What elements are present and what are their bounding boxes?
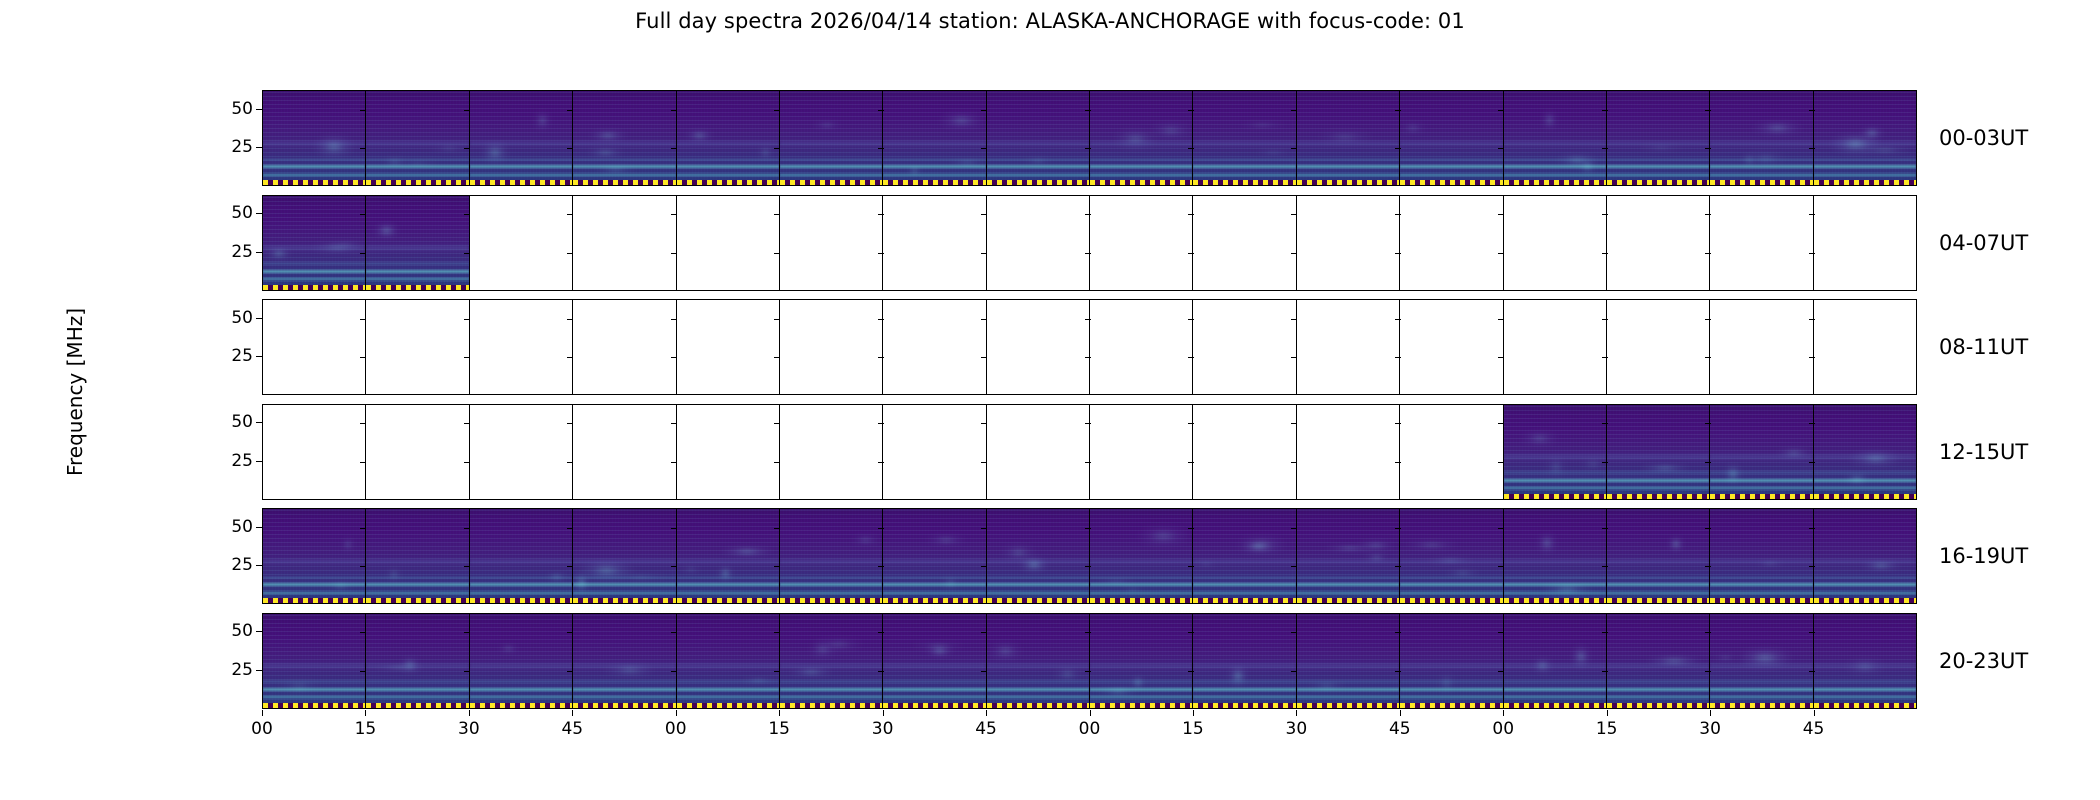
spectrogram-feature (329, 242, 363, 248)
row-axes[interactable] (262, 508, 1917, 604)
spectrogram-cell[interactable] (1090, 91, 1193, 185)
y-axis-tick-inner (1291, 462, 1297, 463)
spectrogram-cell[interactable] (780, 91, 883, 185)
spectrogram-cell[interactable] (1710, 614, 1813, 708)
spectrogram-row: 255020-23UT (262, 613, 1917, 709)
saturated-bin-line (883, 180, 985, 185)
spectrogram-feature (1845, 657, 1885, 676)
y-axis-tick-inner (1085, 632, 1091, 633)
spectrogram-cell[interactable] (1090, 614, 1193, 708)
y-axis-tick-inner (1705, 253, 1711, 254)
spectrogram-feature (809, 640, 837, 659)
spectrogram-cell[interactable] (1710, 91, 1813, 185)
spectrogram-cell-empty[interactable] (1710, 196, 1813, 290)
spectrogram-image (1607, 614, 1709, 708)
spectrogram-cell-empty[interactable] (1090, 405, 1193, 499)
y-axis-tick-inner (360, 423, 366, 424)
y-axis-tick-inner (1395, 253, 1401, 254)
spectrogram-cell-empty[interactable] (987, 196, 1090, 290)
spectrogram-cell[interactable] (366, 91, 469, 185)
spectrogram-image (780, 91, 882, 185)
spectrogram-feature (1777, 447, 1811, 459)
x-axis-tick (1814, 710, 1815, 716)
spectrogram-cell[interactable] (1710, 509, 1813, 603)
row-cells (263, 91, 1916, 185)
y-axis-tick-inner (1498, 462, 1504, 463)
y-axis-tick-inner (1395, 462, 1401, 463)
y-axis-tick-inner (464, 110, 470, 111)
spectrogram-cell[interactable] (366, 196, 469, 290)
spectrogram-image (366, 614, 468, 708)
x-axis-tick (1710, 710, 1711, 716)
saturated-bin-line (1090, 180, 1192, 185)
spectrogram-cell[interactable] (1193, 614, 1296, 708)
x-axis-tick (1503, 710, 1504, 716)
spectrogram-cell-empty[interactable] (1400, 405, 1503, 499)
x-axis-tick-label: 45 (1803, 719, 1825, 739)
spectrogram-image (1400, 91, 1502, 185)
spectrogram-cell[interactable] (780, 509, 883, 603)
spectrogram-cell[interactable] (263, 196, 366, 290)
y-axis-tick-inner (671, 319, 677, 320)
y-axis-tick-inner (1085, 253, 1091, 254)
spectrogram-cell-empty[interactable] (573, 300, 676, 394)
y-axis-tick-inner (1705, 319, 1711, 320)
spectrogram-feature (589, 129, 628, 142)
y-axis-tick-inner (878, 214, 884, 215)
spectrogram-cell[interactable] (883, 614, 986, 708)
spectrogram-feature (908, 167, 921, 175)
y-axis-tick-inner (1705, 671, 1711, 672)
spectrogram-cell-empty[interactable] (366, 405, 469, 499)
x-axis-tick-label: 45 (561, 719, 583, 739)
spectrogram-cell[interactable] (573, 509, 676, 603)
spectrogram-cell-empty[interactable] (1297, 300, 1400, 394)
spectrogram-feature (1150, 121, 1192, 140)
spectrogram-feature (1123, 586, 1143, 594)
x-axis-tick (986, 710, 987, 716)
y-axis-tick-inner (1085, 671, 1091, 672)
spectrogram-feature (546, 572, 568, 582)
spectrogram-cell-empty[interactable] (883, 405, 986, 499)
y-axis-tick-inner (878, 148, 884, 149)
spectrogram-cell[interactable] (677, 614, 780, 708)
saturated-bin-line (1400, 180, 1502, 185)
y-axis-tick-inner (1809, 110, 1815, 111)
spectrogram-cell[interactable] (987, 91, 1090, 185)
y-axis-tick-inner (567, 566, 573, 567)
y-axis-tick-inner (1291, 632, 1297, 633)
spectrogram-image (1607, 405, 1709, 499)
spectrogram-feature (1844, 473, 1870, 486)
spectrogram-image (677, 91, 779, 185)
spectrogram-cell-empty[interactable] (1504, 196, 1607, 290)
y-axis-tick-inner (360, 319, 366, 320)
spectrogram-cell[interactable] (1090, 509, 1193, 603)
y-axis-tick-inner (878, 462, 884, 463)
spectrogram-cell-empty[interactable] (1400, 196, 1503, 290)
spectrogram-cell[interactable] (470, 614, 573, 708)
saturated-bin-line (1710, 180, 1812, 185)
y-axis-tick-inner (1085, 110, 1091, 111)
spectrogram-cell-empty[interactable] (1090, 300, 1193, 394)
spectrogram-cell[interactable] (573, 614, 676, 708)
row-axes[interactable] (262, 613, 1917, 709)
y-axis-tick-inner (1188, 319, 1194, 320)
spectrogram-cell-empty[interactable] (1814, 300, 1916, 394)
spectrogram-cell-empty[interactable] (1607, 300, 1710, 394)
spectrogram-image (263, 196, 365, 290)
spectrogram-cell-empty[interactable] (677, 196, 780, 290)
spectrogram-image (1504, 614, 1606, 708)
y-axis-tick-inner (464, 632, 470, 633)
spectrogram-feature (942, 576, 959, 589)
y-axis-tick-inner (981, 566, 987, 567)
spectrogram-cell[interactable] (1607, 91, 1710, 185)
spectrogram-image (366, 509, 468, 603)
y-axis-tick-inner (1188, 357, 1194, 358)
y-axis-tick-inner (671, 423, 677, 424)
y-axis-tick-inner (567, 632, 573, 633)
spectrogram-image (987, 91, 1089, 185)
spectrogram-cell-empty[interactable] (366, 300, 469, 394)
y-axis-tick-inner (774, 566, 780, 567)
y-axis-tick-inner (1498, 671, 1504, 672)
spectrogram-cell[interactable] (883, 91, 986, 185)
spectrogram-feature (1318, 129, 1372, 145)
spectrogram-cell[interactable] (1607, 405, 1710, 499)
spectrogram-cell-empty[interactable] (470, 196, 573, 290)
spectrogram-cell-empty[interactable] (1193, 196, 1296, 290)
spectrogram-cell[interactable] (1814, 91, 1916, 185)
y-axis-tick-inner (671, 462, 677, 463)
spectrogram-cell-empty[interactable] (1090, 196, 1193, 290)
y-axis-tick-inner (567, 423, 573, 424)
spectrogram-cell[interactable] (1814, 509, 1916, 603)
spectrogram-feature (267, 247, 291, 259)
spectrogram-feature (1001, 543, 1036, 562)
spectrogram-cell[interactable] (573, 91, 676, 185)
spectrogram-feature (587, 147, 624, 159)
spectrogram-cell-empty[interactable] (780, 405, 883, 499)
x-axis-tick (1607, 710, 1608, 716)
y-axis-tick-inner (878, 423, 884, 424)
spectrogram-cell[interactable] (366, 509, 469, 603)
y-axis-tick-label: 50 (231, 621, 253, 641)
spectrogram-cell-empty[interactable] (987, 300, 1090, 394)
spectrogram-cell-empty[interactable] (263, 300, 366, 394)
y-axis-tick-label: 50 (231, 203, 253, 223)
x-axis-tick-label: 15 (355, 719, 377, 739)
y-axis-tick-inner (774, 253, 780, 254)
y-axis-tick-inner (567, 357, 573, 358)
saturated-bin-line (263, 598, 365, 603)
y-axis-tick-inner (1705, 632, 1711, 633)
x-axis-ticks: 00153045001530450015304500153045 (262, 710, 1917, 750)
spectrogram-cell[interactable] (1504, 91, 1607, 185)
spectrogram-image (470, 614, 572, 708)
x-axis-tick (883, 710, 884, 716)
y-axis-tick-inner (671, 357, 677, 358)
spectrogram-feature (313, 134, 355, 158)
y-axis-tick-inner (981, 423, 987, 424)
spectrogram-feature (1571, 644, 1591, 669)
spectrogram-cell-empty[interactable] (573, 405, 676, 499)
y-axis-tick-inner (1498, 253, 1504, 254)
spectrogram-cell[interactable] (780, 614, 883, 708)
y-axis-tick-inner (774, 148, 780, 149)
saturated-bin-line (1607, 598, 1709, 603)
y-axis-tick-inner (878, 110, 884, 111)
saturated-bin-line (366, 598, 468, 603)
y-axis-tick-label: 25 (231, 242, 253, 262)
y-axis-tick-inner (360, 671, 366, 672)
spectrogram-feature (989, 641, 1022, 660)
spectrogram-cell[interactable] (263, 614, 366, 708)
saturated-bin-line (1607, 180, 1709, 185)
y-axis-tick-inner (1602, 528, 1608, 529)
y-axis-tick-inner (1602, 148, 1608, 149)
saturated-bin-line (883, 703, 985, 708)
y-axis-label: Frequency [MHz] (63, 262, 87, 522)
y-axis-tick-inner (464, 319, 470, 320)
spectrogram-image (883, 91, 985, 185)
spectrogram-cell[interactable] (883, 509, 986, 603)
spectrogram-cell[interactable] (677, 509, 780, 603)
spectrogram-cell[interactable] (677, 91, 780, 185)
spectrogram-cell[interactable] (366, 614, 469, 708)
spectrogram-image (470, 509, 572, 603)
saturated-bin-line (1090, 703, 1192, 708)
spectrogram-cell-empty[interactable] (1814, 196, 1916, 290)
spectrogram-cell[interactable] (1400, 91, 1503, 185)
x-axis-tick-label: 30 (1699, 719, 1721, 739)
spectrogram-cell-empty[interactable] (987, 405, 1090, 499)
y-axis-tick-inner (1602, 253, 1608, 254)
spectrogram-image (366, 91, 468, 185)
y-axis-tick-inner (1395, 566, 1401, 567)
spectrogram-image (366, 196, 468, 290)
spectrogram-cell-empty[interactable] (1193, 300, 1296, 394)
y-axis-tick-inner (1809, 528, 1815, 529)
y-axis-tick-inner (1188, 253, 1194, 254)
y-axis-tick-inner (1395, 528, 1401, 529)
y-axis-tick-label: 50 (231, 412, 253, 432)
spectrogram-cell[interactable] (987, 509, 1090, 603)
spectrogram-cell[interactable] (1814, 405, 1916, 499)
spectrogram-feature (604, 662, 655, 678)
spectrogram-figure: Full day spectra 2026/04/14 station: ALA… (0, 0, 2100, 800)
y-axis-tick-inner (981, 462, 987, 463)
spectrogram-feature (1848, 449, 1903, 468)
spectrogram-feature (742, 678, 775, 683)
spectrogram-cell[interactable] (1400, 614, 1503, 708)
y-axis-tick-label: 50 (231, 517, 253, 537)
saturated-bin-line (677, 703, 779, 708)
y-axis-tick-inner (671, 214, 677, 215)
y-axis-tick-inner (1602, 566, 1608, 567)
spectrogram-feature (1445, 570, 1480, 576)
y-axis-tick-inner (981, 110, 987, 111)
spectrogram-cell[interactable] (1400, 509, 1503, 603)
y-axis-tick-inner (1291, 253, 1297, 254)
y-axis-tick-inner (1395, 319, 1401, 320)
spectrogram-image (883, 509, 985, 603)
spectrogram-cell-empty[interactable] (573, 196, 676, 290)
spectrogram-cell-empty[interactable] (780, 300, 883, 394)
spectrogram-feature (374, 222, 399, 239)
spectrogram-cell-empty[interactable] (677, 300, 780, 394)
y-axis-tick-inner (878, 528, 884, 529)
x-axis-tick (1193, 710, 1194, 716)
row-axes[interactable] (262, 404, 1917, 500)
spectrogram-cell[interactable] (987, 614, 1090, 708)
saturated-bin-line (573, 598, 675, 603)
spectrogram-feature (481, 140, 510, 165)
x-axis-tick (262, 710, 263, 716)
spectrogram-cell[interactable] (1814, 614, 1916, 708)
spectrogram-cell[interactable] (1607, 614, 1710, 708)
spectrogram-cell-empty[interactable] (1607, 196, 1710, 290)
spectrogram-feature (1025, 157, 1051, 165)
spectrogram-cell-empty[interactable] (1400, 300, 1503, 394)
spectrogram-image (573, 91, 675, 185)
y-axis-tick-inner (1188, 632, 1194, 633)
y-axis-tick-inner (1705, 357, 1711, 358)
y-axis-tick-inner (1809, 632, 1815, 633)
y-axis-tick-inner (878, 319, 884, 320)
y-axis-tick-inner (567, 148, 573, 149)
spectrogram-cell[interactable] (1297, 614, 1400, 708)
row-axes[interactable] (262, 195, 1917, 291)
saturated-bin-line (1193, 598, 1295, 603)
x-axis-tick (1400, 710, 1401, 716)
x-axis-tick (779, 710, 780, 716)
spectrogram-image (470, 91, 572, 185)
spectrogram-feature (1541, 582, 1594, 598)
y-axis-tick-inner (567, 462, 573, 463)
y-axis-tick-inner (981, 357, 987, 358)
spectrogram-cell[interactable] (263, 509, 366, 603)
saturated-bin-line (573, 180, 675, 185)
spectrogram-feature (1196, 561, 1216, 568)
spectrogram-cell-empty[interactable] (1297, 405, 1400, 499)
spectrogram-cell-empty[interactable] (883, 300, 986, 394)
spectrogram-image (1814, 405, 1916, 499)
spectrogram-cell-empty[interactable] (470, 300, 573, 394)
spectrogram-feature (1308, 680, 1344, 691)
spectrogram-cell[interactable] (1607, 509, 1710, 603)
spectrogram-cell-empty[interactable] (780, 196, 883, 290)
spectrogram-cell[interactable] (1297, 509, 1400, 603)
spectrogram-feature (1427, 557, 1474, 563)
y-axis-tick-inner (1291, 671, 1297, 672)
saturated-bin-line (1400, 598, 1502, 603)
saturated-bin-line (677, 180, 779, 185)
y-axis-tick-inner (981, 319, 987, 320)
x-axis-tick-label: 15 (1182, 719, 1204, 739)
spectrogram-cell-empty[interactable] (883, 196, 986, 290)
saturated-bin-line (677, 598, 779, 603)
spectrogram-cell[interactable] (263, 91, 366, 185)
spectrogram-image (1400, 509, 1502, 603)
y-axis-tick-inner (1498, 528, 1504, 529)
x-axis-tick-label: 00 (1079, 719, 1101, 739)
y-axis-tick-inner (464, 357, 470, 358)
spectrogram-feature (1239, 122, 1286, 129)
spectrogram-cell[interactable] (470, 91, 573, 185)
saturated-bin-line (1607, 703, 1709, 708)
spectrogram-feature (1243, 542, 1272, 552)
spectrogram-feature (1581, 457, 1606, 471)
spectrogram-cell-empty[interactable] (263, 405, 366, 499)
spectrogram-cell-empty[interactable] (1710, 300, 1813, 394)
row-axes[interactable] (262, 90, 1917, 186)
y-axis-tick-inner (671, 671, 677, 672)
spectrogram-feature (1756, 561, 1785, 567)
row-label-08-11ut: 08-11UT (1939, 335, 2028, 359)
y-axis-tick-inner (671, 632, 677, 633)
y-axis-tick-label: 25 (231, 660, 253, 680)
spectrogram-cell[interactable] (1504, 614, 1607, 708)
spectrogram-feature (534, 110, 550, 130)
y-axis-tick-inner (360, 462, 366, 463)
y-axis-tick-inner (1395, 214, 1401, 215)
saturated-bin-line (1814, 598, 1916, 603)
y-axis-tick-inner (878, 357, 884, 358)
x-axis-tick-label: 00 (1492, 719, 1514, 739)
spectrogram-cell[interactable] (1297, 91, 1400, 185)
spectrogram-image (1710, 614, 1812, 708)
page-title: Full day spectra 2026/04/14 station: ALA… (0, 9, 2100, 33)
y-axis-tick-inner (1395, 632, 1401, 633)
spectrogram-cell-empty[interactable] (470, 405, 573, 499)
spectrogram-feature (595, 165, 636, 175)
spectrogram-image (573, 614, 675, 708)
saturated-bin-line (1710, 598, 1812, 603)
spectrogram-cell[interactable] (1193, 91, 1296, 185)
saturated-bin-line (780, 703, 882, 708)
spectrogram-cell-empty[interactable] (1297, 196, 1400, 290)
spectrogram-cell-empty[interactable] (677, 405, 780, 499)
y-axis-tick-inner (1188, 214, 1194, 215)
y-axis-tick-inner (1291, 528, 1297, 529)
y-axis-tick-inner (1809, 357, 1815, 358)
spectrogram-image (1090, 509, 1192, 603)
spectrogram-cell[interactable] (470, 509, 573, 603)
spectrogram-cell-empty[interactable] (1504, 300, 1607, 394)
spectrogram-cell-empty[interactable] (1193, 405, 1296, 499)
spectrogram-image (573, 509, 675, 603)
spectrogram-cell[interactable] (1193, 509, 1296, 603)
row-axes[interactable] (262, 299, 1917, 395)
saturated-bin-line (1297, 703, 1399, 708)
spectrogram-image (987, 509, 1089, 603)
spectrogram-feature (1405, 540, 1458, 550)
y-axis-tick-inner (360, 566, 366, 567)
y-axis-tick-inner (464, 528, 470, 529)
saturated-bin-line (780, 598, 882, 603)
spectrogram-cell[interactable] (1504, 509, 1607, 603)
y-axis-tick-inner (1085, 462, 1091, 463)
spectrogram-feature (1742, 153, 1756, 166)
y-axis-tick-inner (1291, 319, 1297, 320)
spectrogram-feature (1532, 657, 1553, 674)
spectrogram-cell[interactable] (1710, 405, 1813, 499)
y-axis-tick-inner (1498, 632, 1504, 633)
spectrogram-cell[interactable] (1504, 405, 1607, 499)
row-label-04-07ut: 04-07UT (1939, 231, 2028, 255)
